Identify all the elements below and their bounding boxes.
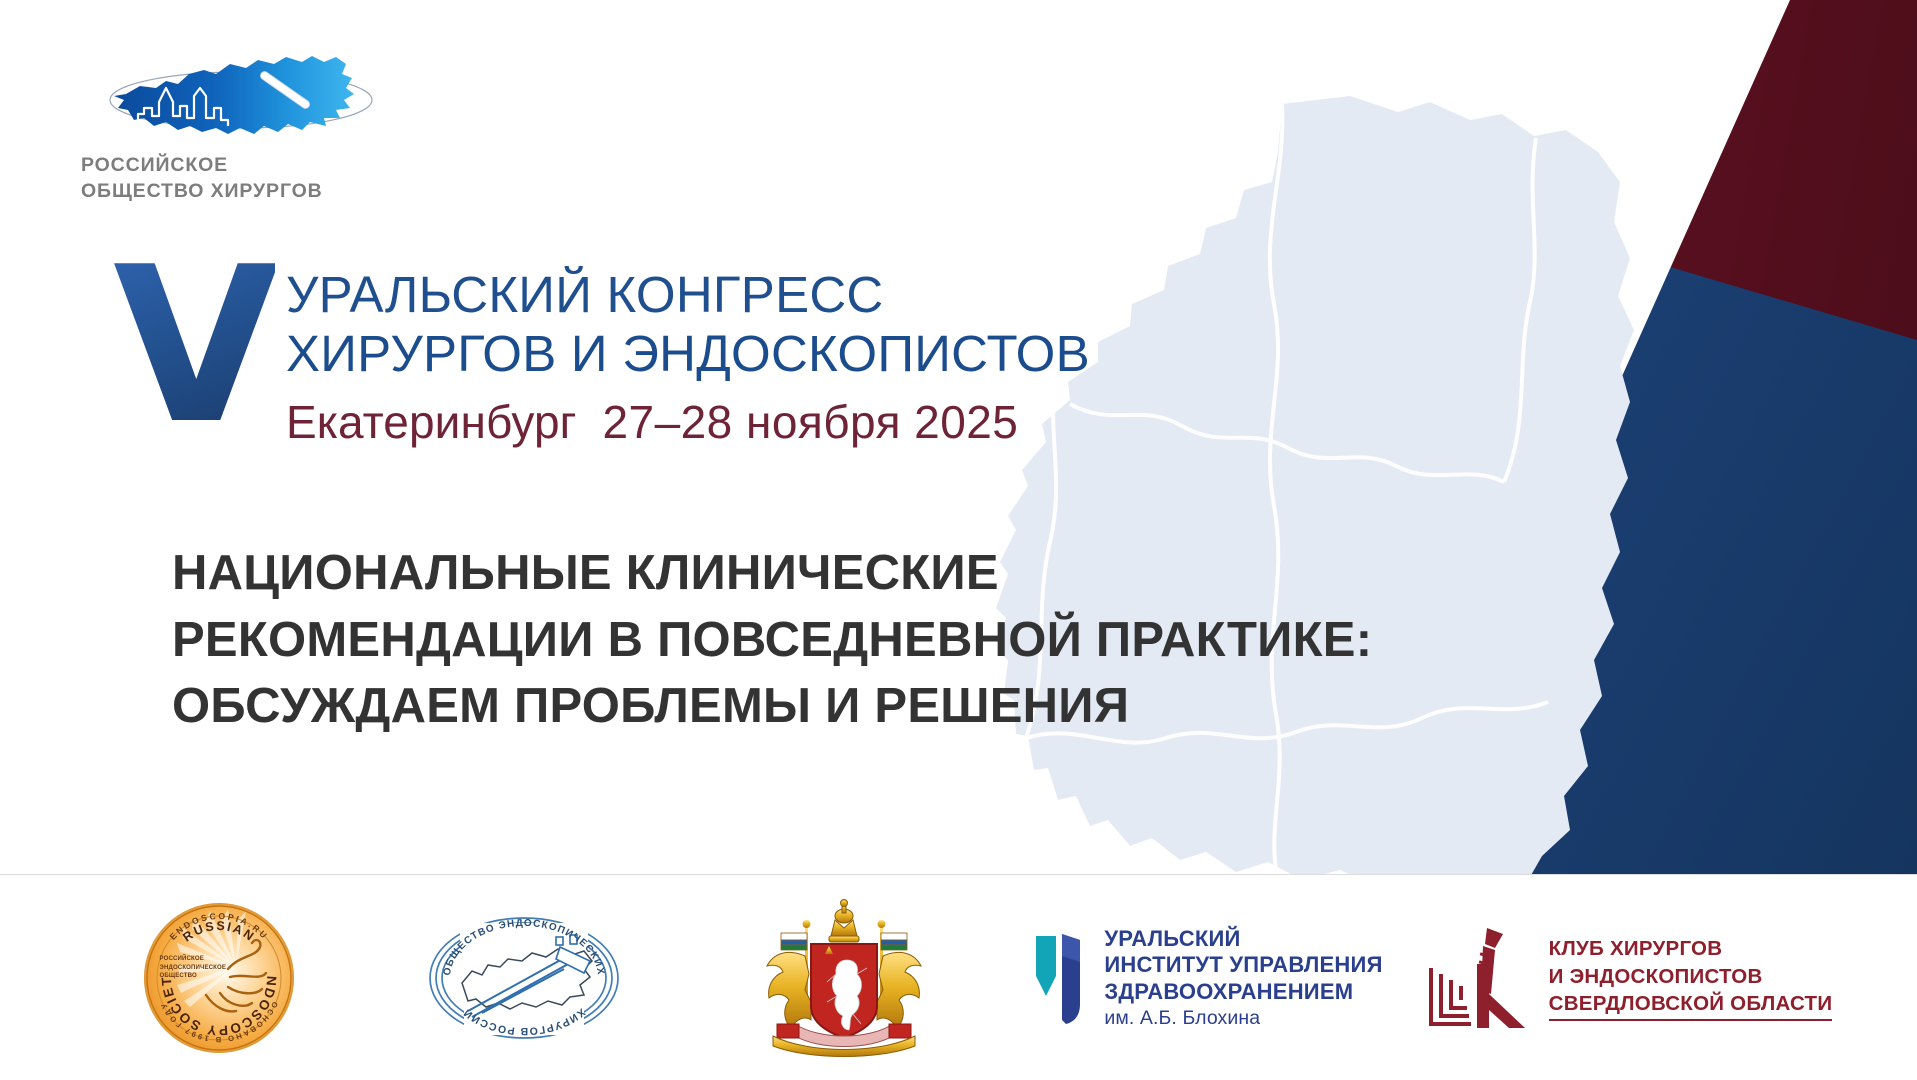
seal-core-line-1: РОССИЙСКОЕ xyxy=(160,955,226,964)
institute-line-2: ИНСТИТУТ УПРАВЛЕНИЯ xyxy=(1104,952,1382,978)
club-line-1: КЛУБ ХИРУРГОВ xyxy=(1549,935,1833,962)
footer-logo-sverdlovsk-coat-of-arms xyxy=(679,898,1009,1058)
club-line-2: И ЭНДОСКОПИСТОВ xyxy=(1549,963,1833,990)
club-line-3: СВЕРДЛОВСКОЙ ОБЛАСТИ xyxy=(1549,990,1833,1020)
institute-line-3: ЗДРАВООХРАНЕНИЕМ xyxy=(1104,979,1382,1005)
footer-logo-surgeons-club: КЛУБ ХИРУРГОВ И ЭНДОСКОПИСТОВ СВЕРДЛОВСК… xyxy=(1409,924,1849,1032)
partner-logos-footer: ENDOSCOPIA.RU RUSSIAN ENDOSCOPY SOCIETY … xyxy=(0,874,1917,1080)
society-logo-text: РОССИЙСКОЕ ОБЩЕСТВО ХИРУРГОВ xyxy=(81,153,391,204)
seal-core-line-2: ЭНДОСКОПИЧЕСКОЕ xyxy=(160,964,226,973)
russia-map-with-kremlin-skyline-and-scalpel-icon xyxy=(96,48,386,153)
footer-logo-society-of-endoscopic-surgeons: ОБЩЕСТВО ЭНДОСКОПИЧЕСКИХ ХИРУРГОВ РОССИИ xyxy=(369,913,679,1043)
club-name-text: КЛУБ ХИРУРГОВ И ЭНДОСКОПИСТОВ СВЕРДЛОВСК… xyxy=(1549,935,1833,1020)
congress-headline: НАЦИОНАЛЬНЫЕ КЛИНИЧЕСКИЕ РЕКОМЕНДАЦИИ В … xyxy=(172,540,1432,740)
congress-title-line-2: ХИРУРГОВ И ЭНДОСКОПИСТОВ xyxy=(286,324,1336,383)
institute-line-4: им. А.Б. Блохина xyxy=(1104,1007,1382,1030)
footer-logo-russian-endoscopy-society: ENDOSCOPIA.RU RUSSIAN ENDOSCOPY SOCIETY … xyxy=(69,903,369,1053)
poster-stage: РОССИЙСКОЕ ОБЩЕСТВО ХИРУРГОВ V УРАЛЬСКИЙ… xyxy=(0,0,1917,874)
institute-line-1: УРАЛЬСКИЙ xyxy=(1104,926,1382,952)
congress-title-line-1: УРАЛЬСКИЙ КОНГРЕСС xyxy=(286,265,1336,324)
russian-society-of-surgeons-logo: РОССИЙСКОЕ ОБЩЕСТВО ХИРУРГОВ xyxy=(80,48,390,198)
round-orange-seal-icon: ENDOSCOPIA.RU RUSSIAN ENDOSCOPY SOCIETY … xyxy=(144,903,294,1053)
congress-numeral: V xyxy=(113,258,275,434)
seal-core-text: РОССИЙСКОЕ ЭНДОСКОПИЧЕСКОЕ ОБЩЕСТВО xyxy=(160,955,226,981)
society-logo-line-1: РОССИЙСКОЕ xyxy=(81,153,391,179)
stylized-u-mark-icon xyxy=(1034,932,1090,1024)
society-logo-line-2: ОБЩЕСТВО ХИРУРГОВ xyxy=(81,179,391,205)
seal-core-line-3: ОБЩЕСТВО xyxy=(160,972,226,981)
congress-city-and-dates: Екатеринбург27–28 ноября 2025 xyxy=(286,397,1336,448)
footer-logo-ural-institute-of-health-management: УРАЛЬСКИЙ ИНСТИТУТ УПРАВЛЕНИЯ ЗДРАВООХРА… xyxy=(1009,926,1409,1031)
headline-line-3: ОБСУЖДАЕМ ПРОБЛЕМЫ И РЕШЕНИЯ xyxy=(172,673,1432,740)
headline-line-1: НАЦИОНАЛЬНЫЕ КЛИНИЧЕСКИЕ xyxy=(172,540,1432,607)
congress-title-block: УРАЛЬСКИЙ КОНГРЕСС ХИРУРГОВ И ЭНДОСКОПИС… xyxy=(286,265,1336,448)
congress-city: Екатеринбург xyxy=(286,396,577,448)
oval-russia-map-with-endoscope-icon: ОБЩЕСТВО ЭНДОСКОПИЧЕСКИХ ХИРУРГОВ РОССИИ xyxy=(424,913,624,1043)
headline-line-2: РЕКОМЕНДАЦИИ В ПОВСЕДНЕВНОЙ ПРАКТИКЕ: xyxy=(172,607,1432,674)
coat-of-arms-icon xyxy=(739,898,949,1058)
institute-name-text: УРАЛЬСКИЙ ИНСТИТУТ УПРАВЛЕНИЯ ЗДРАВООХРА… xyxy=(1104,926,1382,1031)
congress-dates: 27–28 ноября 2025 xyxy=(603,396,1019,448)
scalpel-monogram-icon xyxy=(1425,924,1537,1032)
conference-poster: РОССИЙСКОЕ ОБЩЕСТВО ХИРУРГОВ V УРАЛЬСКИЙ… xyxy=(0,0,1917,1080)
